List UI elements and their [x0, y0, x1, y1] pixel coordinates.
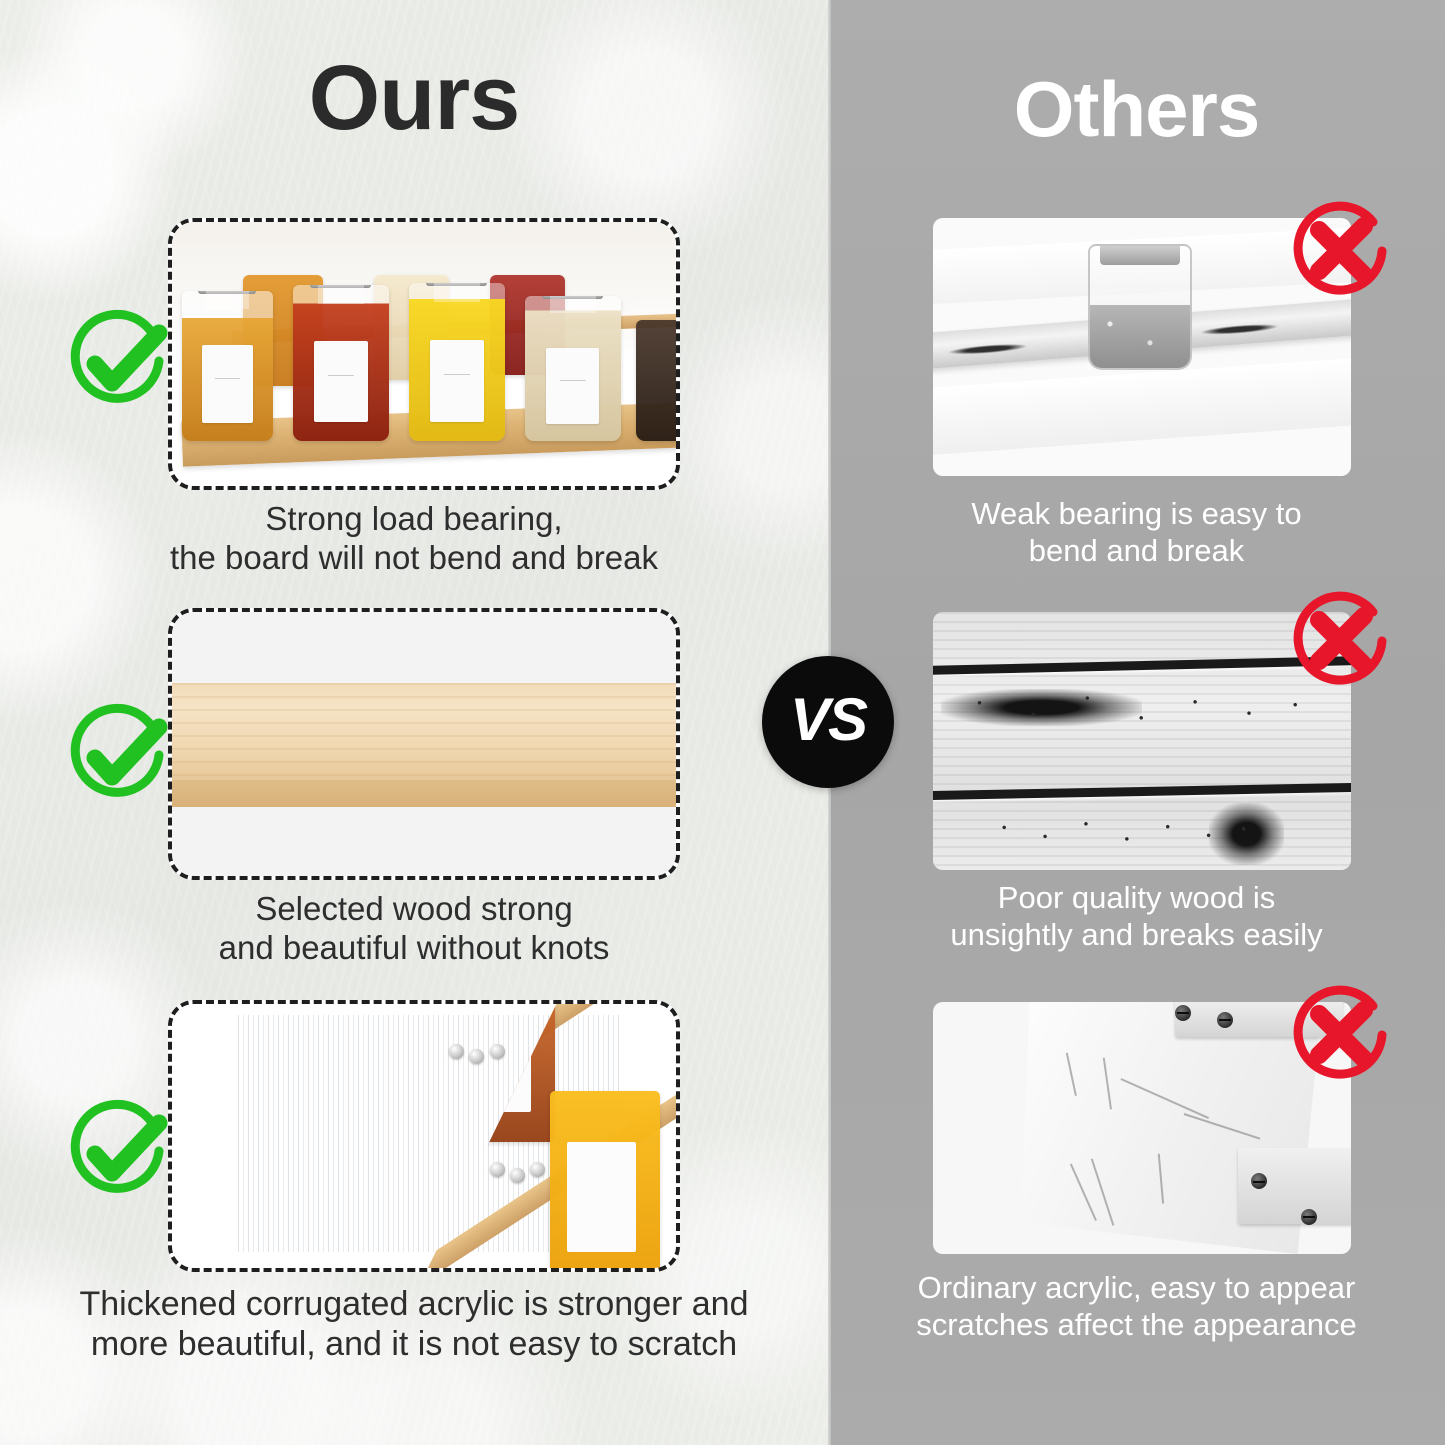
red-cross-icon: [1285, 196, 1395, 311]
spice-jars-on-wooden-rack-photo: [172, 222, 676, 486]
spice-jar: [409, 283, 505, 441]
others-caption-1: Weak bearing is easy to bend and break: [828, 496, 1445, 569]
screw-icon: [490, 1044, 505, 1059]
corrugated-acrylic-panel-photo: [172, 1004, 676, 1268]
ours-panel: Ours: [0, 0, 828, 1445]
ours-photo-2: [168, 608, 680, 880]
green-check-icon: [62, 306, 172, 421]
screw-icon: [449, 1044, 464, 1059]
screw-icon: [1175, 1005, 1191, 1021]
screw-icon: [1301, 1209, 1317, 1225]
others-caption-2: Poor quality wood is unsightly and break…: [828, 880, 1445, 953]
clean-pine-board-photo: [172, 612, 676, 876]
vs-badge: VS: [762, 656, 894, 788]
red-cross-icon: [1285, 980, 1395, 1095]
spice-jar: [636, 320, 676, 441]
others-caption-3: Ordinary acrylic, easy to appear scratch…: [828, 1270, 1445, 1343]
screw-icon: [1251, 1173, 1267, 1189]
ours-title: Ours: [0, 52, 828, 144]
screw-icon: [490, 1162, 505, 1177]
others-title: Others: [828, 70, 1445, 148]
ours-caption-2: Selected wood strong and beautiful witho…: [0, 890, 828, 968]
ours-photo-1: [168, 218, 680, 490]
red-cross-icon: [1285, 586, 1395, 701]
green-check-icon: [62, 700, 172, 815]
spice-jar: [293, 285, 389, 441]
ours-caption-3: Thickened corrugated acrylic is stronger…: [0, 1284, 828, 1364]
vs-label: VS: [790, 690, 866, 750]
comparison-infographic: Ours: [0, 0, 1445, 1445]
green-check-icon: [62, 1096, 172, 1211]
screw-icon: [510, 1168, 525, 1183]
ours-caption-1: Strong load bearing, the board will not …: [0, 500, 828, 578]
spice-jar: [182, 291, 273, 441]
glass-jar: [1088, 244, 1193, 370]
others-panel: Others Weak bearing is easy to bend and …: [828, 0, 1445, 1445]
spice-jar: [525, 296, 621, 441]
ours-photo-3: [168, 1000, 680, 1272]
